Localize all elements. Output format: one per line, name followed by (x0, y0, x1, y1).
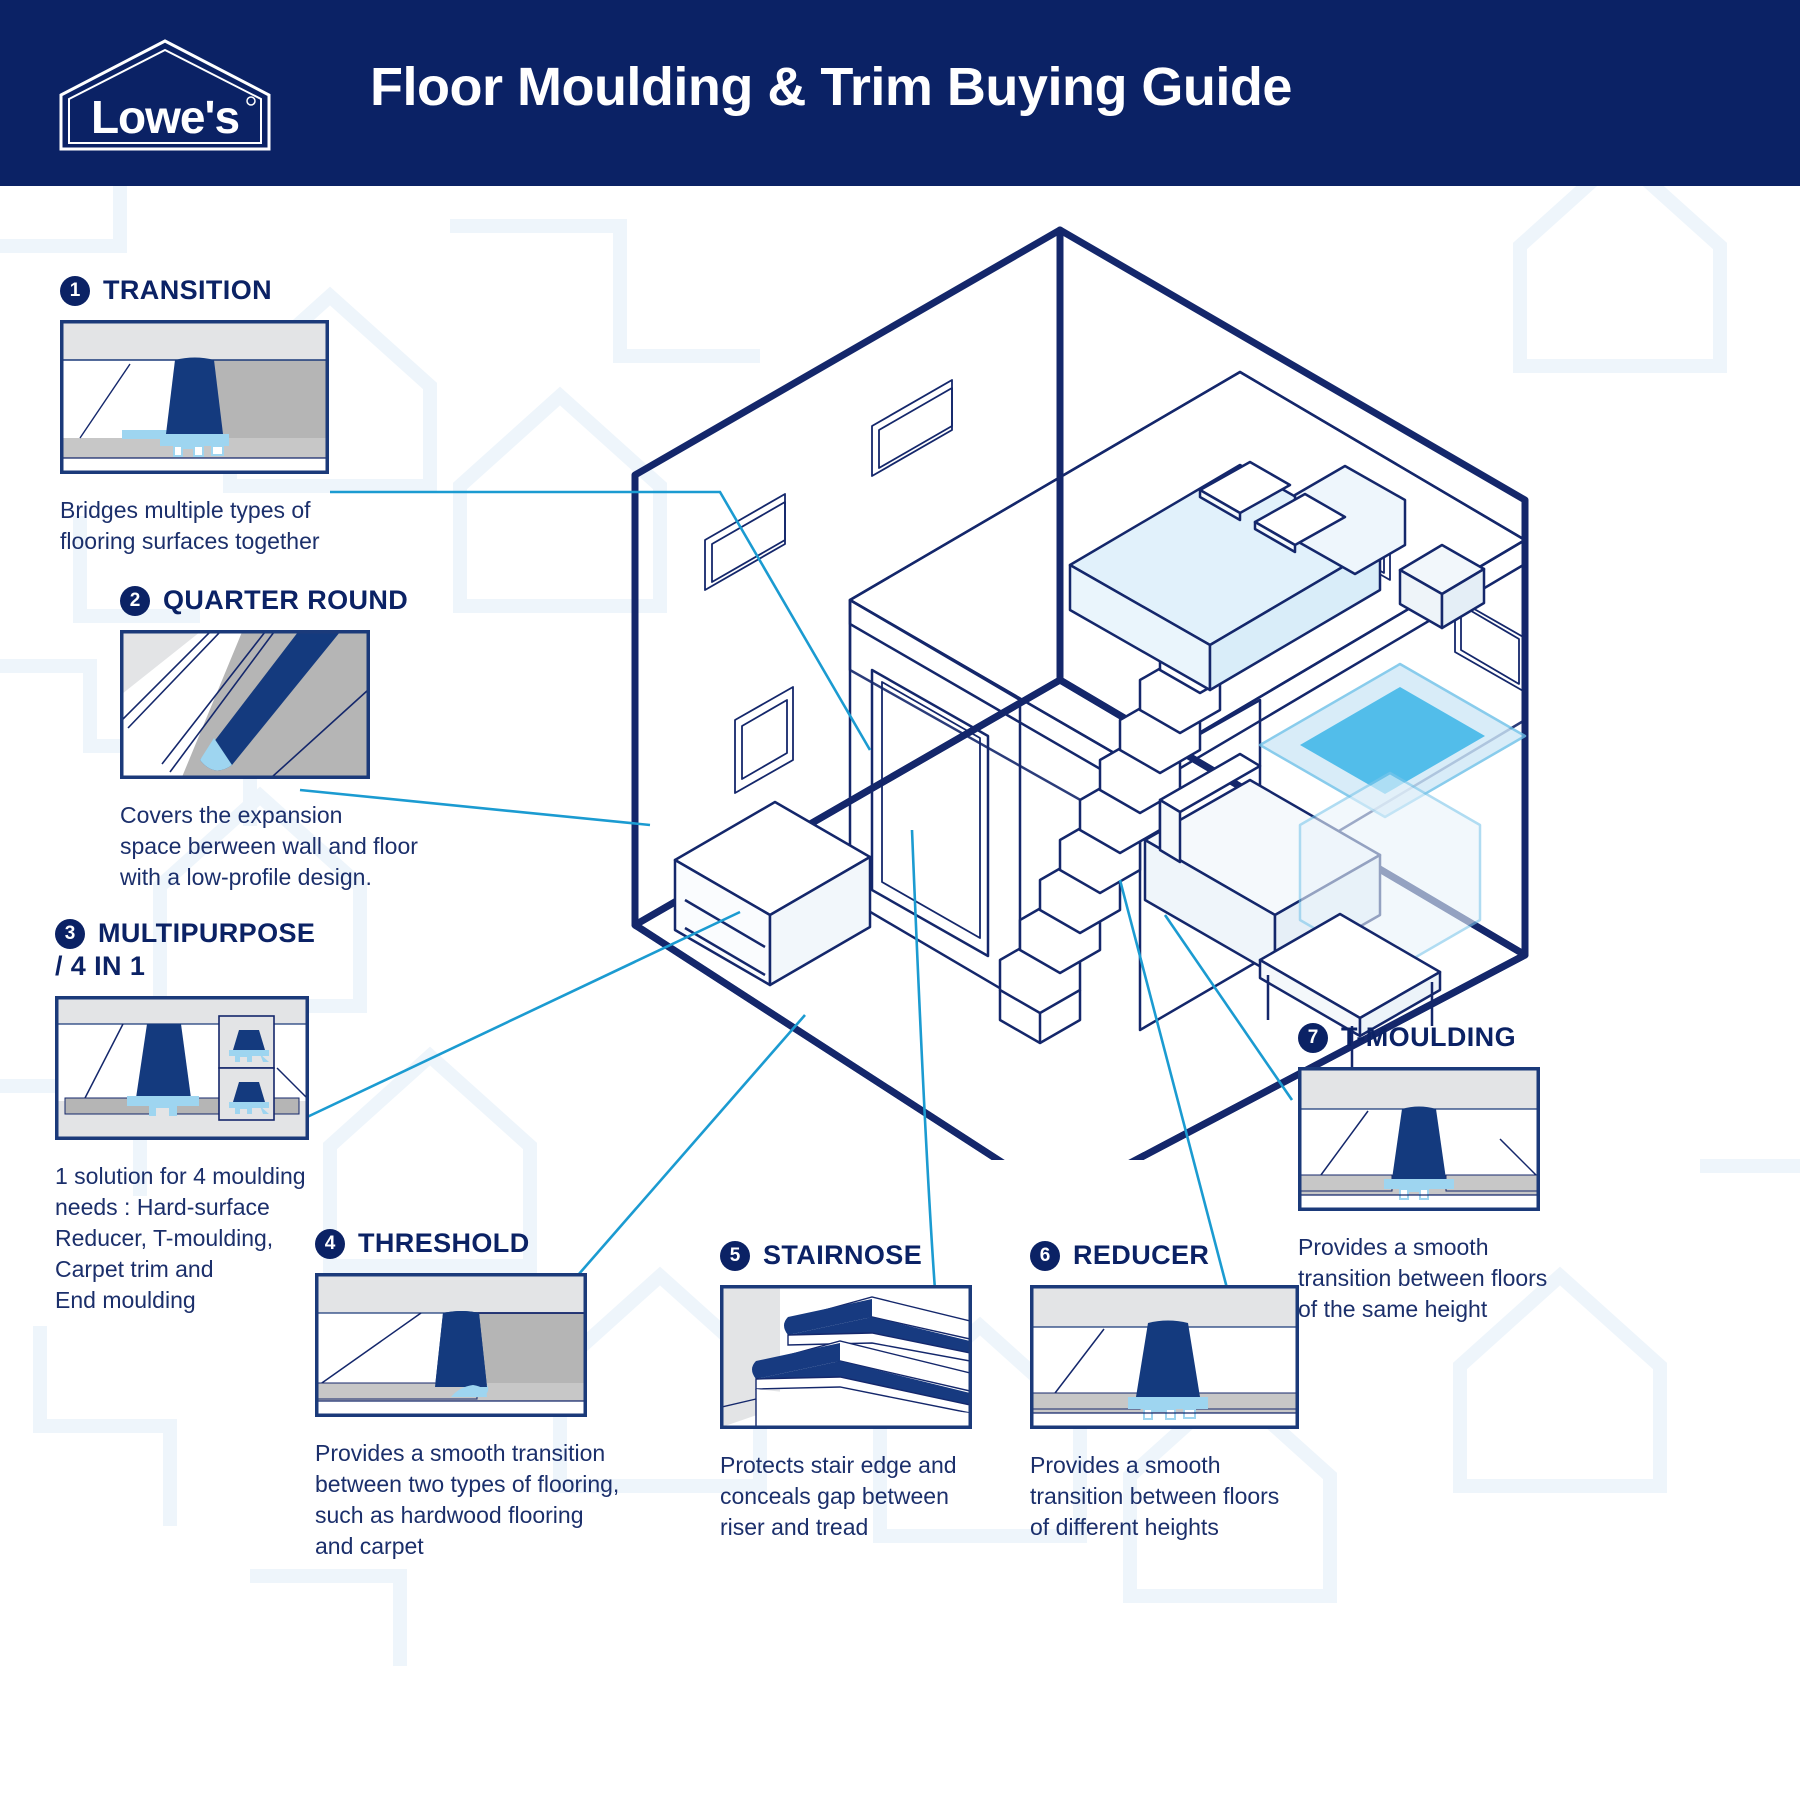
callout-badge: 6 (1030, 1241, 1060, 1271)
stairnose-profile-figure (720, 1285, 972, 1429)
transition-profile-figure (60, 320, 329, 474)
interior-partition-wall (850, 600, 1020, 1000)
callout-title: T-MOULDING (1341, 1022, 1516, 1053)
callout-title: TRANSITION (103, 275, 272, 306)
callout-description: Provides a smooth transition between two… (315, 1438, 695, 1562)
callout-header: 7 T-MOULDING (1298, 1022, 1598, 1053)
nightstand (1400, 545, 1484, 628)
callout-reducer[interactable]: 6 REDUCER Provides a smooth transition b… (1030, 1240, 1330, 1543)
window-upper-right (872, 380, 952, 476)
page-title: Floor Moulding & Trim Buying Guide (370, 56, 1292, 118)
bed (1070, 462, 1405, 690)
page-header: Lowe's Floor Moulding & Trim Buying Guid… (0, 0, 1800, 186)
callout-header: 2 QUARTER ROUND (120, 585, 520, 616)
callout-title: REDUCER (1073, 1240, 1209, 1271)
multipurpose-profile-figure (55, 996, 309, 1140)
threshold-profile-figure (315, 1273, 587, 1417)
window-upper-left (705, 494, 785, 590)
callout-title: THRESHOLD (358, 1228, 530, 1259)
window-lower-left (735, 687, 793, 793)
callout-badge: 2 (120, 586, 150, 616)
callout-description: Protects stair edge and conceals gap bet… (720, 1450, 1020, 1543)
callout-badge: 4 (315, 1229, 345, 1259)
callout-description: Provides a smooth transition between flo… (1298, 1232, 1598, 1325)
callout-t-moulding[interactable]: 7 T-MOULDING Provides a smooth transitio… (1298, 1022, 1598, 1325)
callout-title: STAIRNOSE (763, 1240, 922, 1271)
callout-badge: 1 (60, 276, 90, 306)
callout-badge: 3 (55, 919, 85, 949)
isometric-house-illustration: .nv{stroke:#0b2265;fill:none;} .th{strok… (600, 200, 1580, 1160)
callout-description: Bridges multiple types of flooring surfa… (60, 495, 430, 557)
callout-threshold[interactable]: 4 THRESHOLD Provides a smooth transition… (315, 1228, 695, 1562)
callout-title: QUARTER ROUND (163, 585, 408, 616)
quarter-round-profile-figure (120, 630, 370, 779)
lowes-logo[interactable]: Lowe's (55, 33, 275, 155)
reducer-profile-figure (1030, 1285, 1299, 1429)
callout-title: MULTIPURPOSE (98, 918, 315, 949)
callout-header: 3 MULTIPURPOSE (55, 918, 385, 949)
callout-badge: 7 (1298, 1023, 1328, 1053)
callout-header: 1 TRANSITION (60, 275, 430, 306)
callout-header: 5 STAIRNOSE (720, 1240, 1020, 1271)
callout-description: Covers the expansion space berween wall … (120, 800, 520, 893)
infographic-root: Lowe's Floor Moulding & Trim Buying Guid… (0, 0, 1800, 1800)
callout-header: 4 THRESHOLD (315, 1228, 695, 1259)
callout-badge: 5 (720, 1241, 750, 1271)
callout-stairnose[interactable]: 5 STAIRNOSE Protects stair edge and conc… (720, 1240, 1020, 1543)
callout-header: 6 REDUCER (1030, 1240, 1330, 1271)
logo-wordmark: Lowe's (91, 91, 239, 143)
callout-transition[interactable]: 1 TRANSITION Bridges multiple types of f… (60, 275, 430, 557)
callout-title-line2: / 4 IN 1 (55, 951, 385, 982)
callout-quarter-round[interactable]: 2 QUARTER ROUND Covers the expansion spa… (120, 585, 520, 893)
dresser (675, 802, 870, 985)
callout-description: Provides a smooth transition between flo… (1030, 1450, 1330, 1543)
t-moulding-profile-figure (1298, 1067, 1540, 1211)
